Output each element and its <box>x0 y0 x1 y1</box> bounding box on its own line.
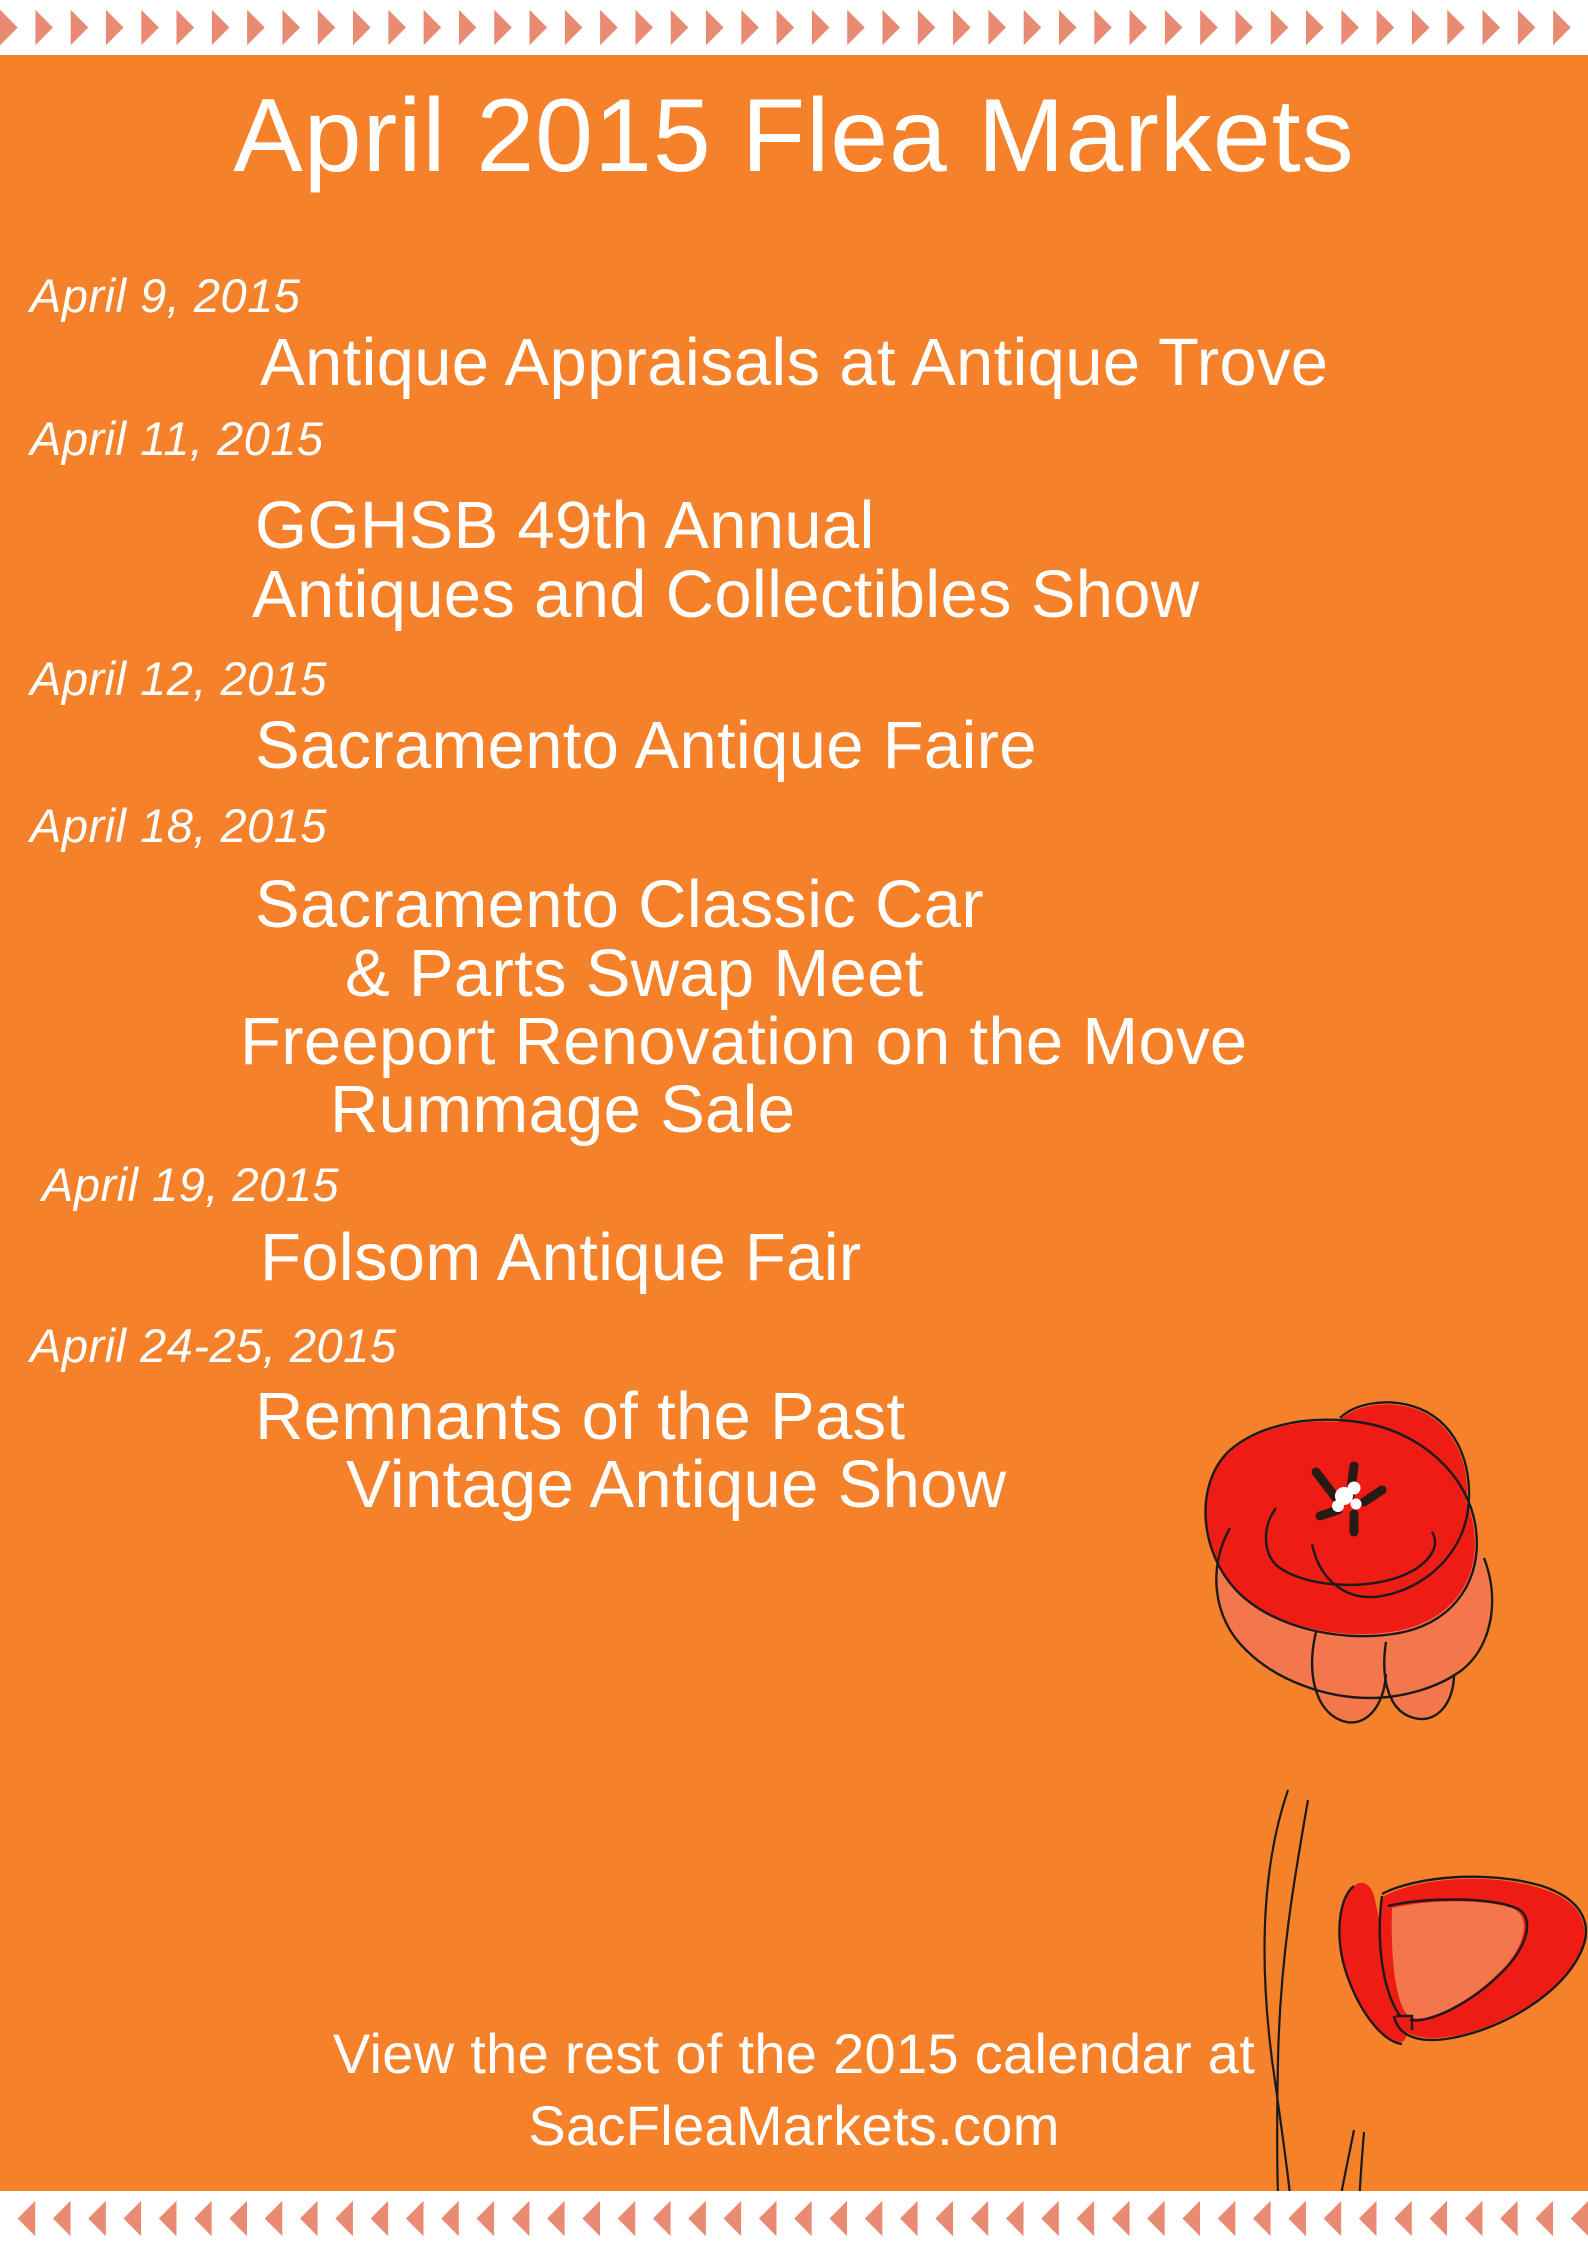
event-item-april-24-25: April 24-25, 2015 Remnants of the Past V… <box>0 1322 1588 1520</box>
footer: View the rest of the 2015 calendar at Sa… <box>0 2018 1588 2161</box>
poppy-lower-petal-right <box>1386 1622 1452 1717</box>
page-title: April 2015 Flea Markets <box>0 82 1588 191</box>
event-title-line: Antiques and Collectibles Show <box>0 561 1588 629</box>
event-item-april-12: April 12, 2015 Sacramento Antique Faire <box>0 655 1588 780</box>
event-title-line: Remnants of the Past <box>0 1383 1588 1451</box>
event-item-april-18: April 18, 2015 Sacramento Classic Car & … <box>0 802 1588 1144</box>
poppy-bud-right-petal <box>1381 1879 1585 2038</box>
bottom-zigzag-border <box>0 2191 1588 2246</box>
event-date: April 19, 2015 <box>0 1161 1588 1208</box>
event-title-group: Sacramento Classic Car & Parts Swap Meet… <box>0 871 1588 1144</box>
event-title-group: Remnants of the Past Vintage Antique Sho… <box>0 1383 1588 1520</box>
event-title-group: Folsom Antique Fair <box>0 1224 1588 1292</box>
event-title-line: & Parts Swap Meet <box>0 940 1588 1008</box>
event-title-line: Rummage Sale <box>0 1076 1588 1144</box>
event-title-line: Folsom Antique Fair <box>0 1224 1588 1292</box>
event-date: April 24-25, 2015 <box>0 1322 1588 1369</box>
top-zigzag-border <box>0 0 1588 55</box>
footer-website[interactable]: SacFleaMarkets.com <box>0 2090 1588 2162</box>
event-item-april-9: April 9, 2015 Antique Appraisals at Anti… <box>0 272 1588 397</box>
event-title-group: GGHSB 49th Annual Antiques and Collectib… <box>0 492 1588 629</box>
event-item-april-11: April 11, 2015 GGHSB 49th Annual Antique… <box>0 415 1588 629</box>
event-list: April 9, 2015 Antique Appraisals at Anti… <box>0 272 1588 1520</box>
event-title-line: Freeport Renovation on the Move <box>0 1008 1588 1076</box>
footer-call-to-action: View the rest of the 2015 calendar at <box>0 2018 1588 2090</box>
event-title-line: Antique Appraisals at Antique Trove <box>0 329 1588 397</box>
flea-market-poster: April 2015 Flea Markets April 9, 2015 An… <box>0 0 1588 2246</box>
event-title-group: Antique Appraisals at Antique Trove <box>0 329 1588 397</box>
event-date: April 12, 2015 <box>0 655 1588 702</box>
event-title-line: Sacramento Classic Car <box>0 871 1588 939</box>
event-title-group: Sacramento Antique Faire <box>0 712 1588 780</box>
event-date: April 9, 2015 <box>0 272 1588 319</box>
event-item-april-19: April 19, 2015 Folsom Antique Fair <box>0 1161 1588 1292</box>
event-title-line: GGHSB 49th Annual <box>0 492 1588 560</box>
event-date: April 18, 2015 <box>0 802 1588 849</box>
poppy-lower-petal-left <box>1314 1616 1384 1720</box>
poppy-bud-inner <box>1392 1901 1524 2018</box>
event-title-line: Vintage Antique Show <box>0 1451 1588 1519</box>
event-title-line: Sacramento Antique Faire <box>0 712 1588 780</box>
spacer <box>0 1292 1588 1322</box>
event-date: April 11, 2015 <box>0 415 1588 462</box>
